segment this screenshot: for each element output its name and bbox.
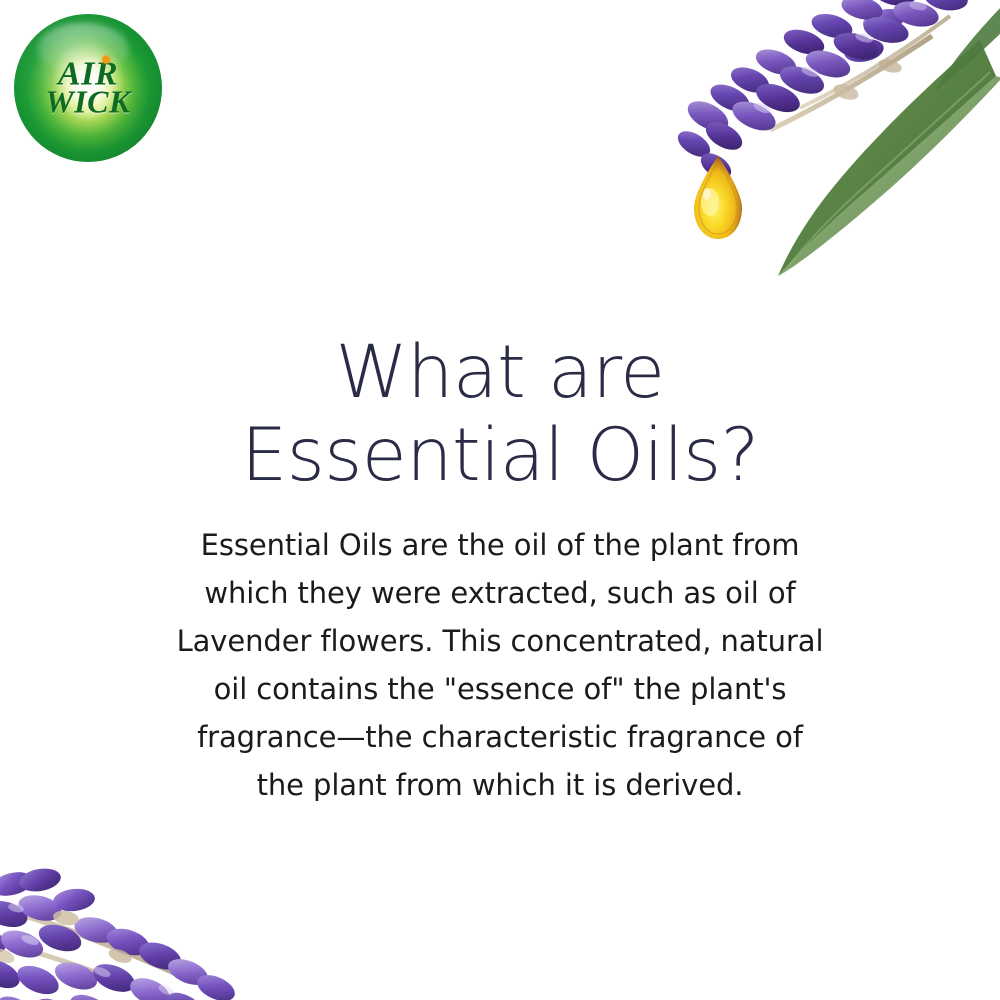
air-wick-logo[interactable]: AIR WICK <box>14 14 162 162</box>
body-line: fragrance—the characteristic fragrance o… <box>130 713 870 761</box>
body-line: the plant from which it is derived. <box>130 761 870 809</box>
page-title: What are Essential Oils? <box>0 331 1000 497</box>
body-paragraph: Essential Oils are the oil of the plant … <box>130 521 870 809</box>
lavender-sprig-artwork <box>0 844 270 1000</box>
headline-line-1: What are <box>0 331 1000 414</box>
marketing-graphic: AIR WICK What are Essential Oils? Essent… <box>0 0 1000 1000</box>
body-line: Essential Oils are the oil of the plant … <box>130 521 870 569</box>
logo-word-air: AIR <box>58 59 118 90</box>
headline-line-2: Essential Oils? <box>0 414 1000 497</box>
body-line: oil contains the "essence of" the plant'… <box>130 665 870 713</box>
body-line: which they were extracted, such as oil o… <box>130 569 870 617</box>
lavender-leaf <box>778 40 996 276</box>
logo-wordmark: AIR WICK <box>14 59 162 118</box>
logo-orange-dot-icon <box>102 56 110 64</box>
oil-drop-icon <box>694 156 742 239</box>
lavender-oil-drop-artwork <box>650 0 1000 310</box>
body-line: Lavender flowers. This concentrated, nat… <box>130 617 870 665</box>
lavender-florets <box>0 866 239 1000</box>
lavender-florets <box>673 0 997 184</box>
